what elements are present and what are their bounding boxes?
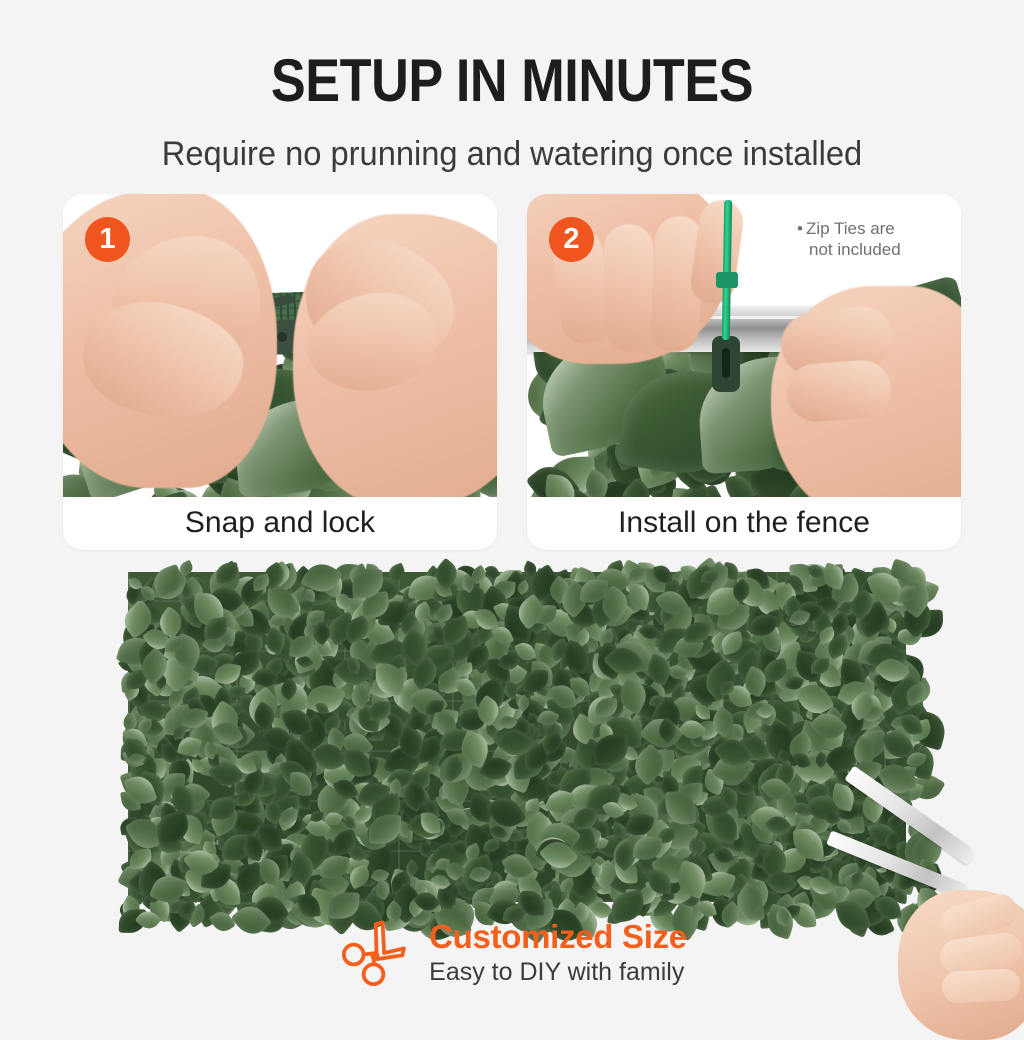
page-title: SETUP IN MINUTES — [67, 50, 958, 112]
step-2-photo: 2 •Zip Ties are not included — [527, 194, 961, 499]
product-panel — [128, 572, 906, 902]
panel-hook-clip — [712, 336, 740, 392]
step-card-2: 2 •Zip Ties are not included Install on … — [527, 194, 961, 550]
step-badge-2: 2 — [549, 217, 594, 262]
step-2-caption: Install on the fence — [527, 497, 961, 548]
note-bullet: • — [797, 219, 803, 238]
infographic-canvas: SETUP IN MINUTES Require no prunning and… — [0, 0, 1024, 1024]
right-hand-finger — [785, 358, 893, 423]
snap-lock-clip-pin — [277, 332, 287, 342]
step-card-1: 1 Snap and lock — [63, 194, 497, 550]
footer: Customized Size Easy to DIY with family — [0, 915, 1024, 991]
page-subtitle: Require no prunning and watering once in… — [20, 133, 1003, 175]
step-1-caption: Snap and lock — [63, 497, 497, 548]
scissors-photo — [874, 844, 1024, 1024]
ivy-privacy-screen — [128, 572, 906, 902]
footer-headline: Customized Size — [429, 918, 687, 956]
footer-subline: Easy to DIY with family — [429, 956, 687, 988]
zip-ties-note: •Zip Ties are not included — [797, 218, 947, 260]
note-line-1: Zip Ties are — [806, 219, 895, 238]
hand-finger — [941, 968, 1021, 1004]
scissors-icon — [337, 915, 413, 991]
left-hand-finger — [603, 223, 657, 353]
footer-text: Customized Size Easy to DIY with family — [429, 918, 687, 988]
step-1-photo: 1 — [63, 194, 497, 499]
note-line-2: not included — [797, 239, 947, 260]
zip-tie-head — [716, 272, 738, 288]
step-badge-1: 1 — [85, 217, 130, 262]
